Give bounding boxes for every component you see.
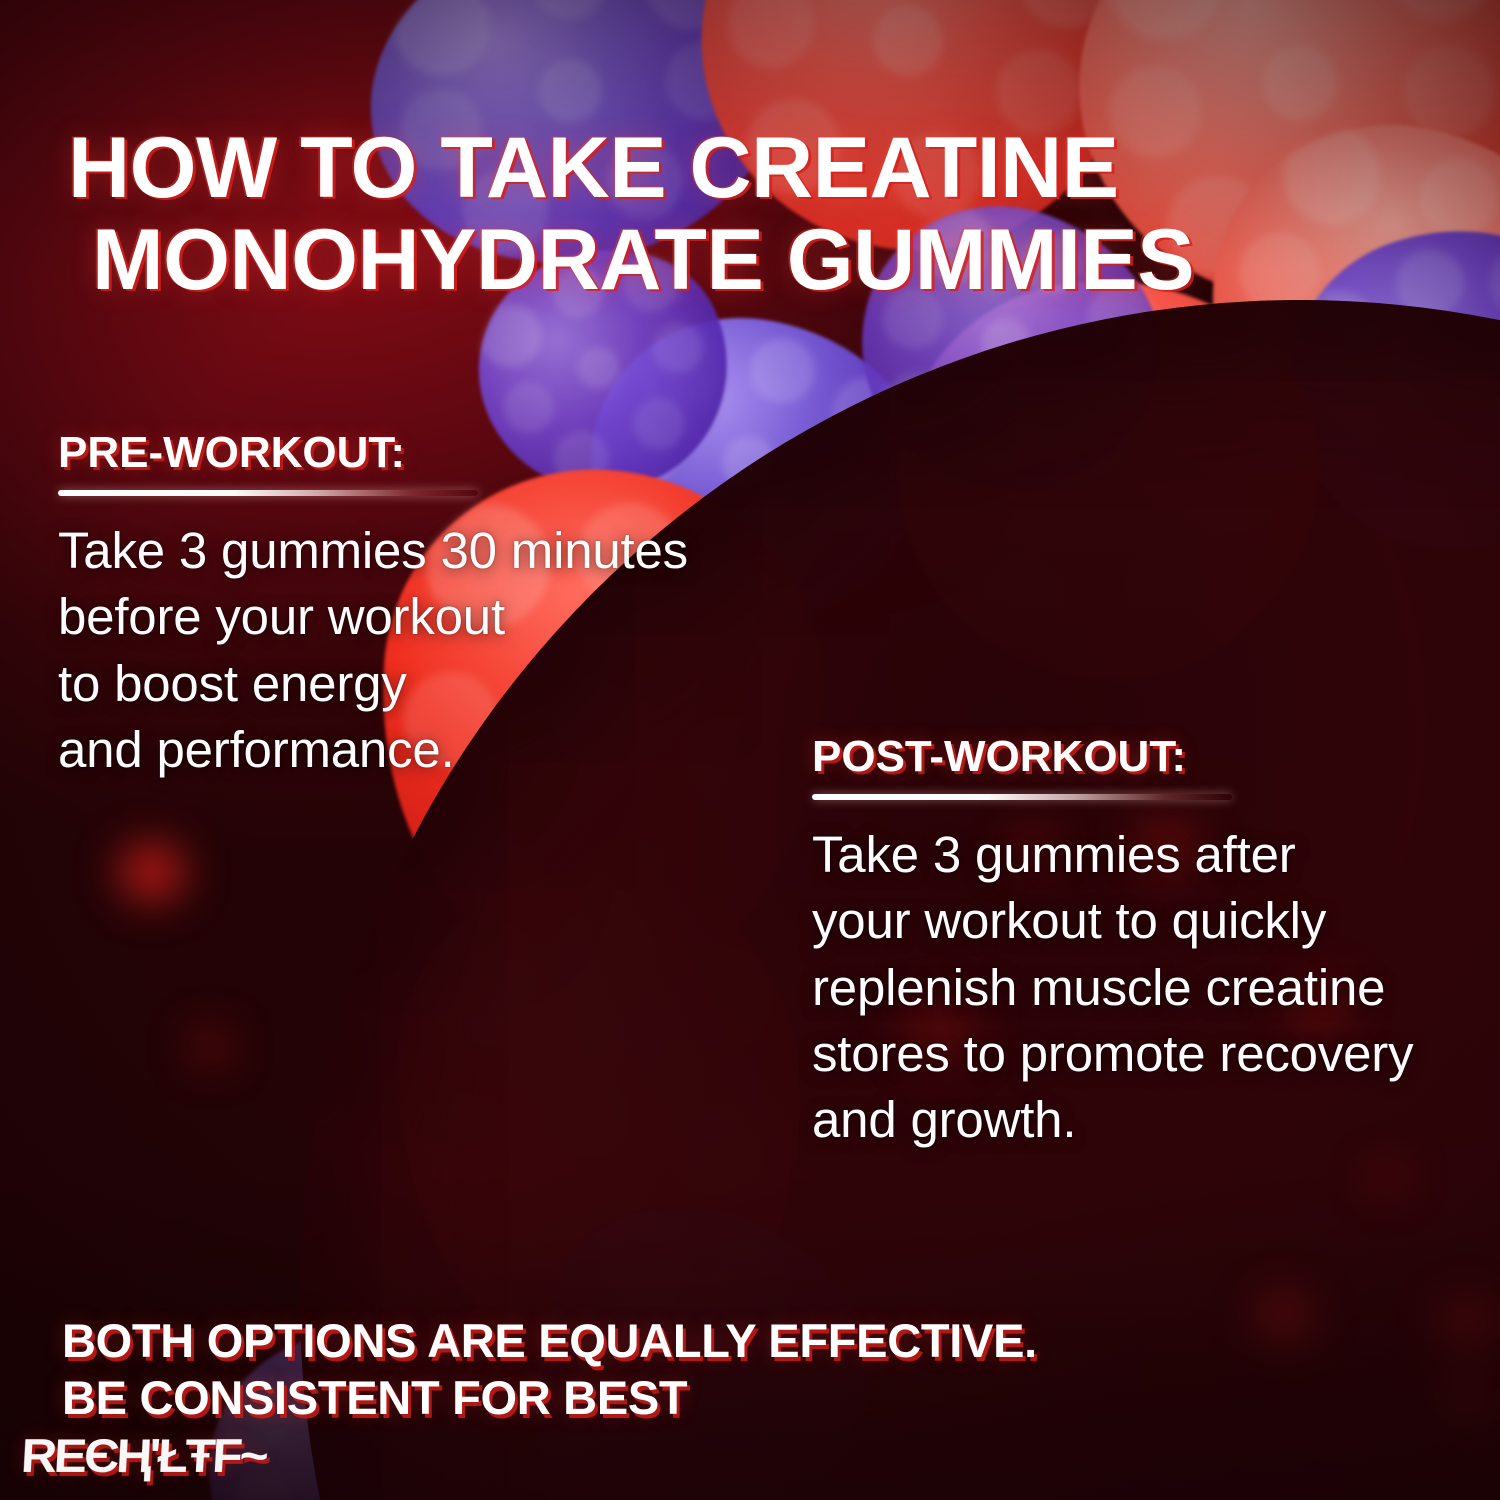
section-post-workout: POST-WORKOUT: Take 3 gummies after your … [812, 732, 1472, 1153]
headline-line-2: MONOHYDRATE GUMMIES [68, 214, 1398, 306]
pre-workout-kicker: PRE-WORKOUT: [58, 428, 758, 478]
footer-line-2: BE CONSISTENT FOR BEST REЄⱧ'ŁŦF~ [62, 1369, 1422, 1484]
post-workout-line: stores to promote recovery [812, 1021, 1472, 1087]
post-workout-kicker: POST-WORKOUT: [812, 732, 1472, 782]
post-workout-body: Take 3 gummies after your workout to qui… [812, 822, 1472, 1153]
infographic-poster: HOW TO TAKE CREATINE MONOHYDRATE GUMMIES… [0, 0, 1500, 1500]
footer-line-2-prefix: BE CONSISTENT FOR BEST [62, 1369, 1422, 1426]
pre-workout-body: Take 3 gummies 30 minutes before your wo… [58, 518, 758, 783]
post-workout-line: your workout to quickly [812, 888, 1472, 954]
pre-workout-underline [58, 490, 478, 496]
page-title: HOW TO TAKE CREATINE MONOHYDRATE GUMMIES [68, 122, 1398, 306]
footer-line-1: BOTH OPTIONS ARE EQUALLY EFFECTIVE. [62, 1312, 1422, 1369]
footer-glitched-word: REЄⱧ'ŁŦF~ [20, 1427, 1465, 1484]
headline-line-1: HOW TO TAKE CREATINE [68, 120, 1119, 216]
post-workout-line: and growth. [812, 1087, 1472, 1153]
post-workout-line: Take 3 gummies after [812, 822, 1472, 888]
post-workout-underline [812, 794, 1232, 800]
pre-workout-line: to boost energy [58, 651, 758, 717]
pre-workout-line: before your workout [58, 584, 758, 650]
pre-workout-line: Take 3 gummies 30 minutes [58, 518, 758, 584]
post-workout-line: replenish muscle creatine [812, 955, 1472, 1021]
section-pre-workout: PRE-WORKOUT: Take 3 gummies 30 minutes b… [58, 428, 758, 783]
poster-content: HOW TO TAKE CREATINE MONOHYDRATE GUMMIES… [0, 0, 1500, 1500]
pre-workout-line: and performance. [58, 717, 758, 783]
footer-callout: BOTH OPTIONS ARE EQUALLY EFFECTIVE. BE C… [62, 1312, 1422, 1484]
